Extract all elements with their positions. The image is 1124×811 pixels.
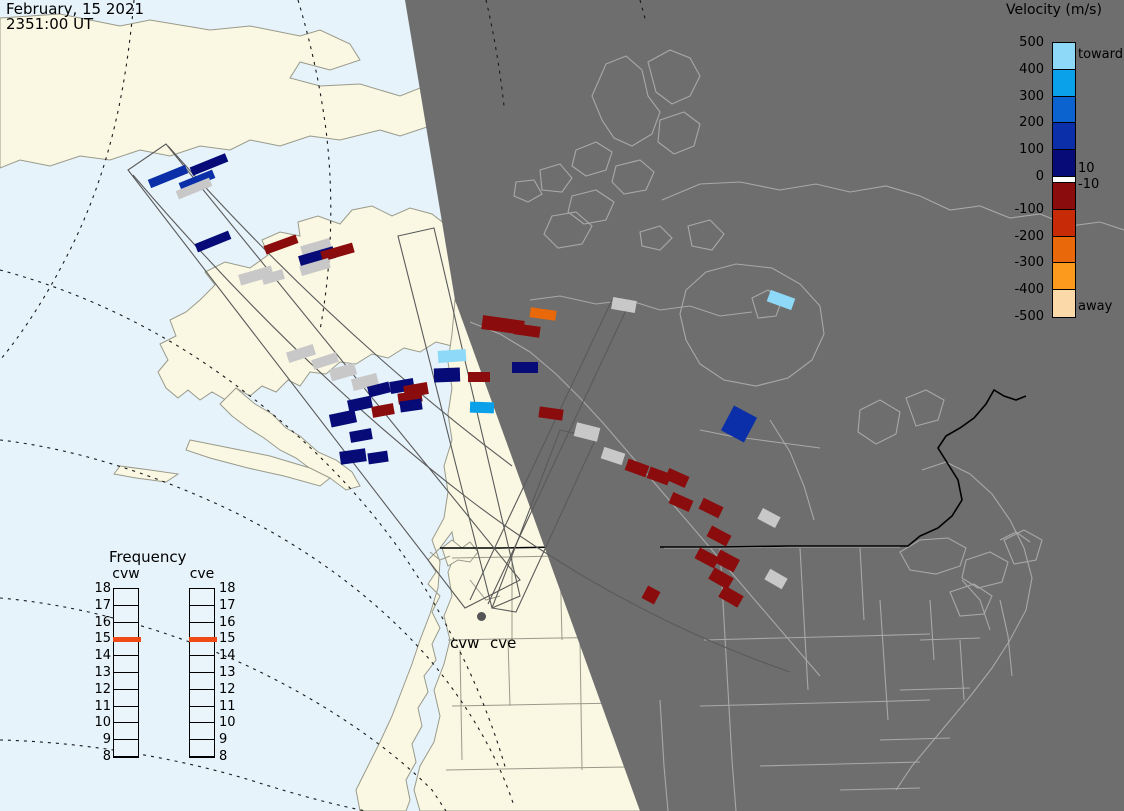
frequency-cell: [114, 673, 138, 690]
frequency-tick-label: 9: [219, 733, 227, 746]
site-label-cve: cve: [490, 634, 516, 652]
frequency-bar-cvw: [113, 588, 139, 758]
frequency-tick-label: 10: [219, 716, 236, 729]
frequency-cell: [114, 740, 138, 757]
velocity-cell: [468, 372, 490, 382]
frequency-legend-title: Frequency: [109, 548, 187, 566]
frequency-tick-label: 15: [219, 632, 236, 645]
frequency-tick-label: 11: [219, 700, 236, 713]
frequency-tick-label: 16: [94, 616, 111, 629]
velocity-side-label-upmid: 10: [1078, 162, 1095, 175]
frequency-tick-label: 17: [94, 599, 111, 612]
frequency-tick-label: 13: [94, 666, 111, 679]
velocity-colorbar-segment: [1053, 123, 1075, 150]
frequency-tick-label: 15: [94, 632, 111, 645]
velocity-tick-label: 300: [1019, 90, 1044, 103]
frequency-cell: [114, 723, 138, 740]
frequency-cell: [114, 707, 138, 724]
velocity-colorbar-segment: [1053, 97, 1075, 124]
velocity-colorbar-title: Velocity (m/s): [1006, 2, 1102, 18]
frequency-cell: [190, 740, 214, 757]
frequency-tick-label: 16: [219, 616, 236, 629]
frequency-cell: [190, 707, 214, 724]
velocity-colorbar-segment: [1053, 70, 1075, 97]
frequency-tick-label: 18: [219, 582, 236, 595]
site-label-cvw: cvw: [450, 634, 479, 652]
frequency-tick-label: 8: [219, 750, 227, 763]
velocity-tick-label: -200: [1014, 230, 1044, 243]
frequency-legend-panel: Frequency cvw 18171615141312111098 cve 1…: [85, 548, 235, 788]
frequency-tick-label: 8: [103, 750, 111, 763]
frequency-tick-label: 14: [219, 649, 236, 662]
velocity-tick-label: 100: [1019, 143, 1044, 156]
velocity-side-label-bot: away: [1078, 300, 1112, 313]
velocity-colorbar-segment: [1053, 290, 1075, 317]
frequency-tick-label: 9: [103, 733, 111, 746]
velocity-colorbar-segment: [1053, 263, 1075, 290]
frequency-column-label: cvw: [103, 566, 149, 582]
frequency-tick-label: 12: [94, 683, 111, 696]
velocity-colorbar-segment: [1053, 43, 1075, 70]
velocity-tick-label: 500: [1019, 36, 1044, 49]
time-text: 2351:00 UT: [6, 17, 144, 32]
frequency-ticks-cve: 18171615141312111098: [219, 588, 241, 758]
frequency-column-label: cve: [179, 566, 225, 582]
frequency-marker: [113, 637, 141, 642]
frequency-cell: [190, 589, 214, 606]
frequency-tick-label: 13: [219, 666, 236, 679]
radar-site-marker: [477, 612, 486, 621]
velocity-tick-label: 0: [1036, 170, 1044, 183]
frequency-cell: [114, 690, 138, 707]
frequency-cell: [190, 656, 214, 673]
frequency-cell: [190, 673, 214, 690]
velocity-side-label-top: toward: [1078, 48, 1123, 61]
frequency-tick-label: 17: [219, 599, 236, 612]
velocity-tick-label: -400: [1014, 283, 1044, 296]
frequency-cell: [190, 690, 214, 707]
frequency-cell: [190, 606, 214, 623]
frequency-tick-label: 14: [94, 649, 111, 662]
frequency-tick-label: 18: [94, 582, 111, 595]
frequency-cell: [190, 723, 214, 740]
velocity-tick-label: -500: [1014, 310, 1044, 323]
velocity-colorbar-panel: Velocity (m/s) 5004003002001000-100-200-…: [996, 0, 1124, 340]
velocity-cell: [512, 362, 538, 373]
frequency-ticks-cvw: 18171615141312111098: [89, 588, 111, 758]
frequency-cell: [114, 606, 138, 623]
velocity-cell: [470, 402, 494, 414]
velocity-tick-label: -300: [1014, 256, 1044, 269]
velocity-tick-label: -100: [1014, 203, 1044, 216]
velocity-colorbar-segment: [1053, 210, 1075, 237]
superdarn-map-view: February, 15 2021 2351:00 UT Velocity (m…: [0, 0, 1124, 811]
frequency-bar-cve: [189, 588, 215, 758]
velocity-cell: [438, 349, 467, 363]
frequency-tick-label: 10: [94, 716, 111, 729]
velocity-side-label-lomid: -10: [1078, 178, 1099, 191]
velocity-cell: [434, 368, 460, 383]
velocity-tick-label: 200: [1019, 116, 1044, 129]
velocity-colorbar-segment: [1053, 237, 1075, 264]
frequency-tick-label: 12: [219, 683, 236, 696]
frequency-tick-label: 11: [94, 700, 111, 713]
timestamp-block: February, 15 2021 2351:00 UT: [6, 2, 144, 32]
frequency-cell: [114, 656, 138, 673]
frequency-cell: [114, 589, 138, 606]
velocity-colorbar-segment: [1053, 150, 1075, 177]
velocity-colorbar: [1052, 42, 1076, 318]
frequency-marker: [189, 637, 217, 642]
velocity-colorbar-segment: [1053, 183, 1075, 210]
velocity-tick-label: 400: [1019, 63, 1044, 76]
